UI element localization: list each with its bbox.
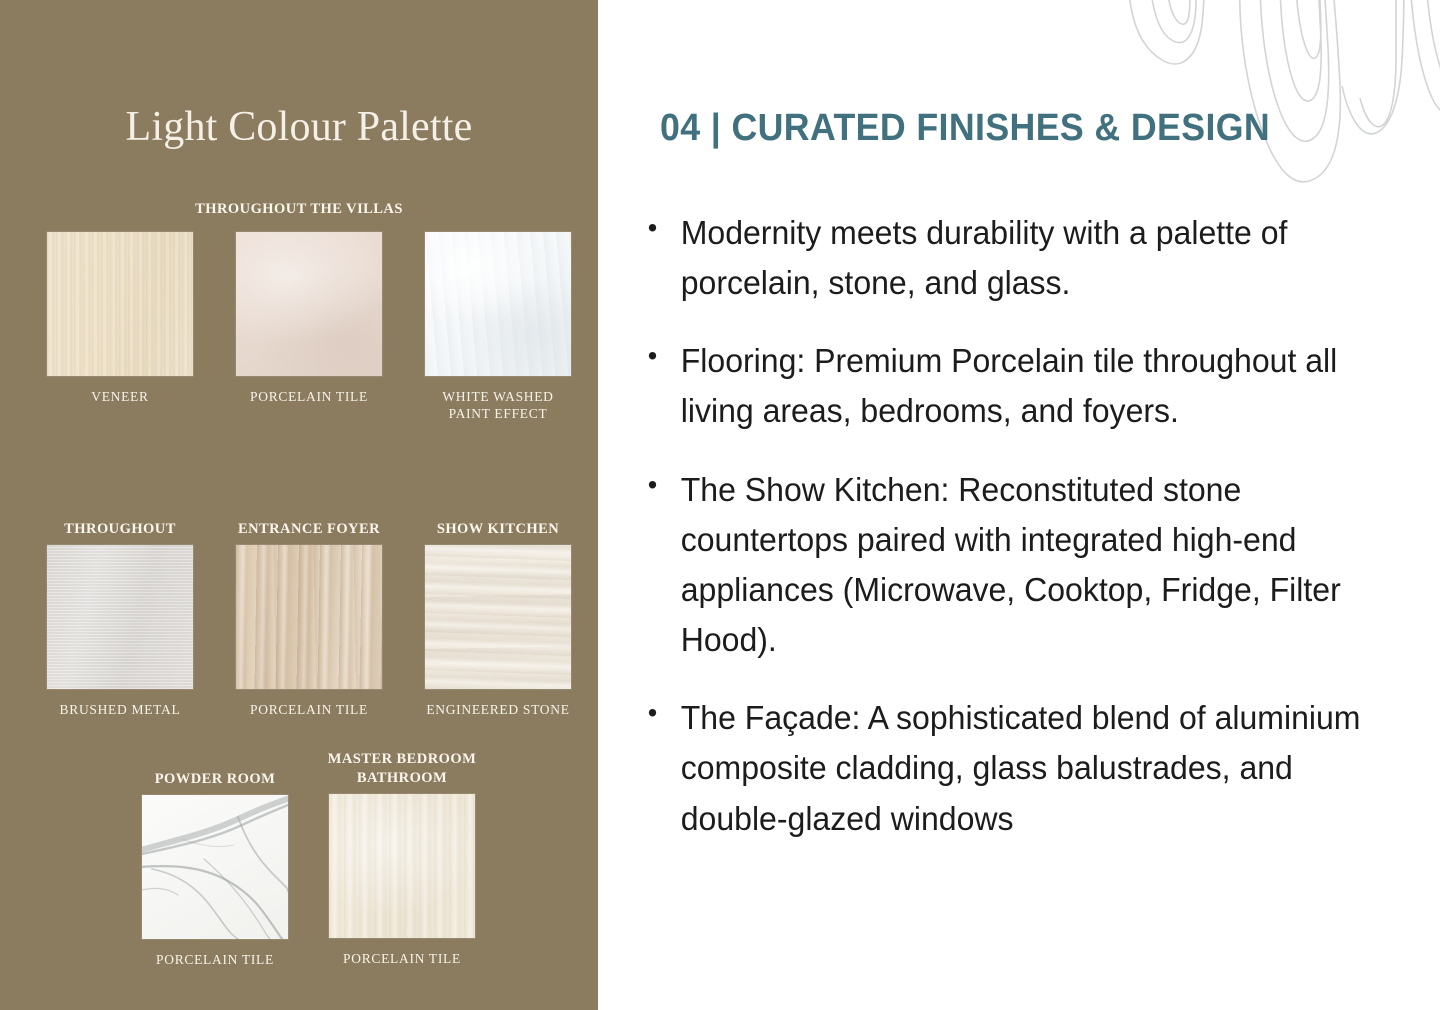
group-label-show-kitchen: SHOW KITCHEN: [418, 520, 578, 539]
light-colour-palette-panel: Light Colour Palette THROUGHOUT THE VILL…: [0, 0, 598, 1010]
swatch-cell-brushed-metal[interactable]: THROUGHOUT BRUSHED METAL: [40, 520, 200, 718]
slide-canvas: Light Colour Palette THROUGHOUT THE VILL…: [0, 0, 1440, 1010]
engineered-stone-texture: [425, 545, 571, 689]
swatch-label-master-bedroom-bathroom: PORCELAIN TILE: [322, 950, 482, 967]
group-label-throughout: THROUGHOUT: [40, 520, 200, 539]
swatch-cell-master-bedroom-bathroom[interactable]: MASTER BEDROOM BATHROOM PORCELAIN TILE: [322, 750, 482, 968]
list-item: Modernity meets durability with a palett…: [640, 208, 1406, 308]
swatch-row: THROUGHOUT THE VILLAS VENEER PORCELAIN T…: [0, 200, 598, 458]
porcelain-wood-texture: [236, 545, 382, 689]
veneer-texture: [47, 232, 193, 376]
swatch-cell-porcelain-tile-pink[interactable]: PORCELAIN TILE: [229, 232, 389, 405]
swatch-cell-white-washed[interactable]: WHITE WASHED PAINT EFFECT: [418, 232, 578, 423]
swatch-label-powder-room: PORCELAIN TILE: [135, 951, 295, 968]
swatch-label-veneer: VENEER: [40, 388, 200, 405]
swatch-row: POWDER ROOM: [0, 708, 598, 958]
veneer-swatch: [47, 232, 193, 376]
white-washed-texture: [425, 232, 571, 376]
group-label-master-bedroom-bathroom: MASTER BEDROOM BATHROOM: [322, 750, 482, 788]
marble-texture: [142, 795, 288, 939]
porcelain-tile-marble-swatch: [142, 795, 288, 939]
swatch-row: THROUGHOUT BRUSHED METAL ENTRANCE FOYER …: [0, 458, 598, 708]
swatch-label-white-washed: WHITE WASHED PAINT EFFECT: [418, 388, 578, 423]
brushed-metal-texture: [47, 545, 193, 689]
porcelain-tile-pink-swatch: [236, 232, 382, 376]
swatch-grid: THROUGHOUT THE VILLAS VENEER PORCELAIN T…: [0, 200, 598, 958]
porcelain-pink-texture: [236, 232, 382, 376]
swatch-cell-veneer[interactable]: VENEER: [40, 232, 200, 405]
palette-title: Light Colour Palette: [0, 104, 598, 150]
swatch-cell-porcelain-tile-foyer[interactable]: ENTRANCE FOYER PORCELAIN TILE: [229, 520, 389, 718]
finishes-bullet-list: Modernity meets durability with a palett…: [640, 208, 1430, 872]
group-label-entrance-foyer: ENTRANCE FOYER: [229, 520, 389, 539]
swatch-cell-powder-room[interactable]: POWDER ROOM: [135, 770, 295, 968]
list-item: The Façade: A sophisticated blend of alu…: [640, 693, 1406, 843]
engineered-stone-swatch: [425, 545, 571, 689]
ivory-texture: [329, 794, 475, 938]
group-label-throughout-the-villas: THROUGHOUT THE VILLAS: [0, 200, 598, 219]
swatch-label-porcelain-tile-pink: PORCELAIN TILE: [229, 388, 389, 405]
marble-vein-lines: [142, 795, 288, 939]
brushed-metal-swatch: [47, 545, 193, 689]
list-item: The Show Kitchen: Reconstituted stone co…: [640, 465, 1406, 666]
page-title: 04 | CURATED FINISHES & DESIGN: [660, 107, 1270, 150]
list-item: Flooring: Premium Porcelain tile through…: [640, 336, 1406, 436]
content-panel: 04 | CURATED FINISHES & DESIGN Modernity…: [598, 0, 1440, 1010]
porcelain-tile-wood-swatch: [236, 545, 382, 689]
porcelain-tile-ivory-swatch: [329, 794, 475, 938]
white-washed-paint-swatch: [425, 232, 571, 376]
swatch-cell-engineered-stone[interactable]: SHOW KITCHEN ENGINEERED STONE: [418, 520, 578, 718]
group-label-powder-room: POWDER ROOM: [135, 770, 295, 789]
topographic-decoration-icon: [1120, 0, 1440, 200]
